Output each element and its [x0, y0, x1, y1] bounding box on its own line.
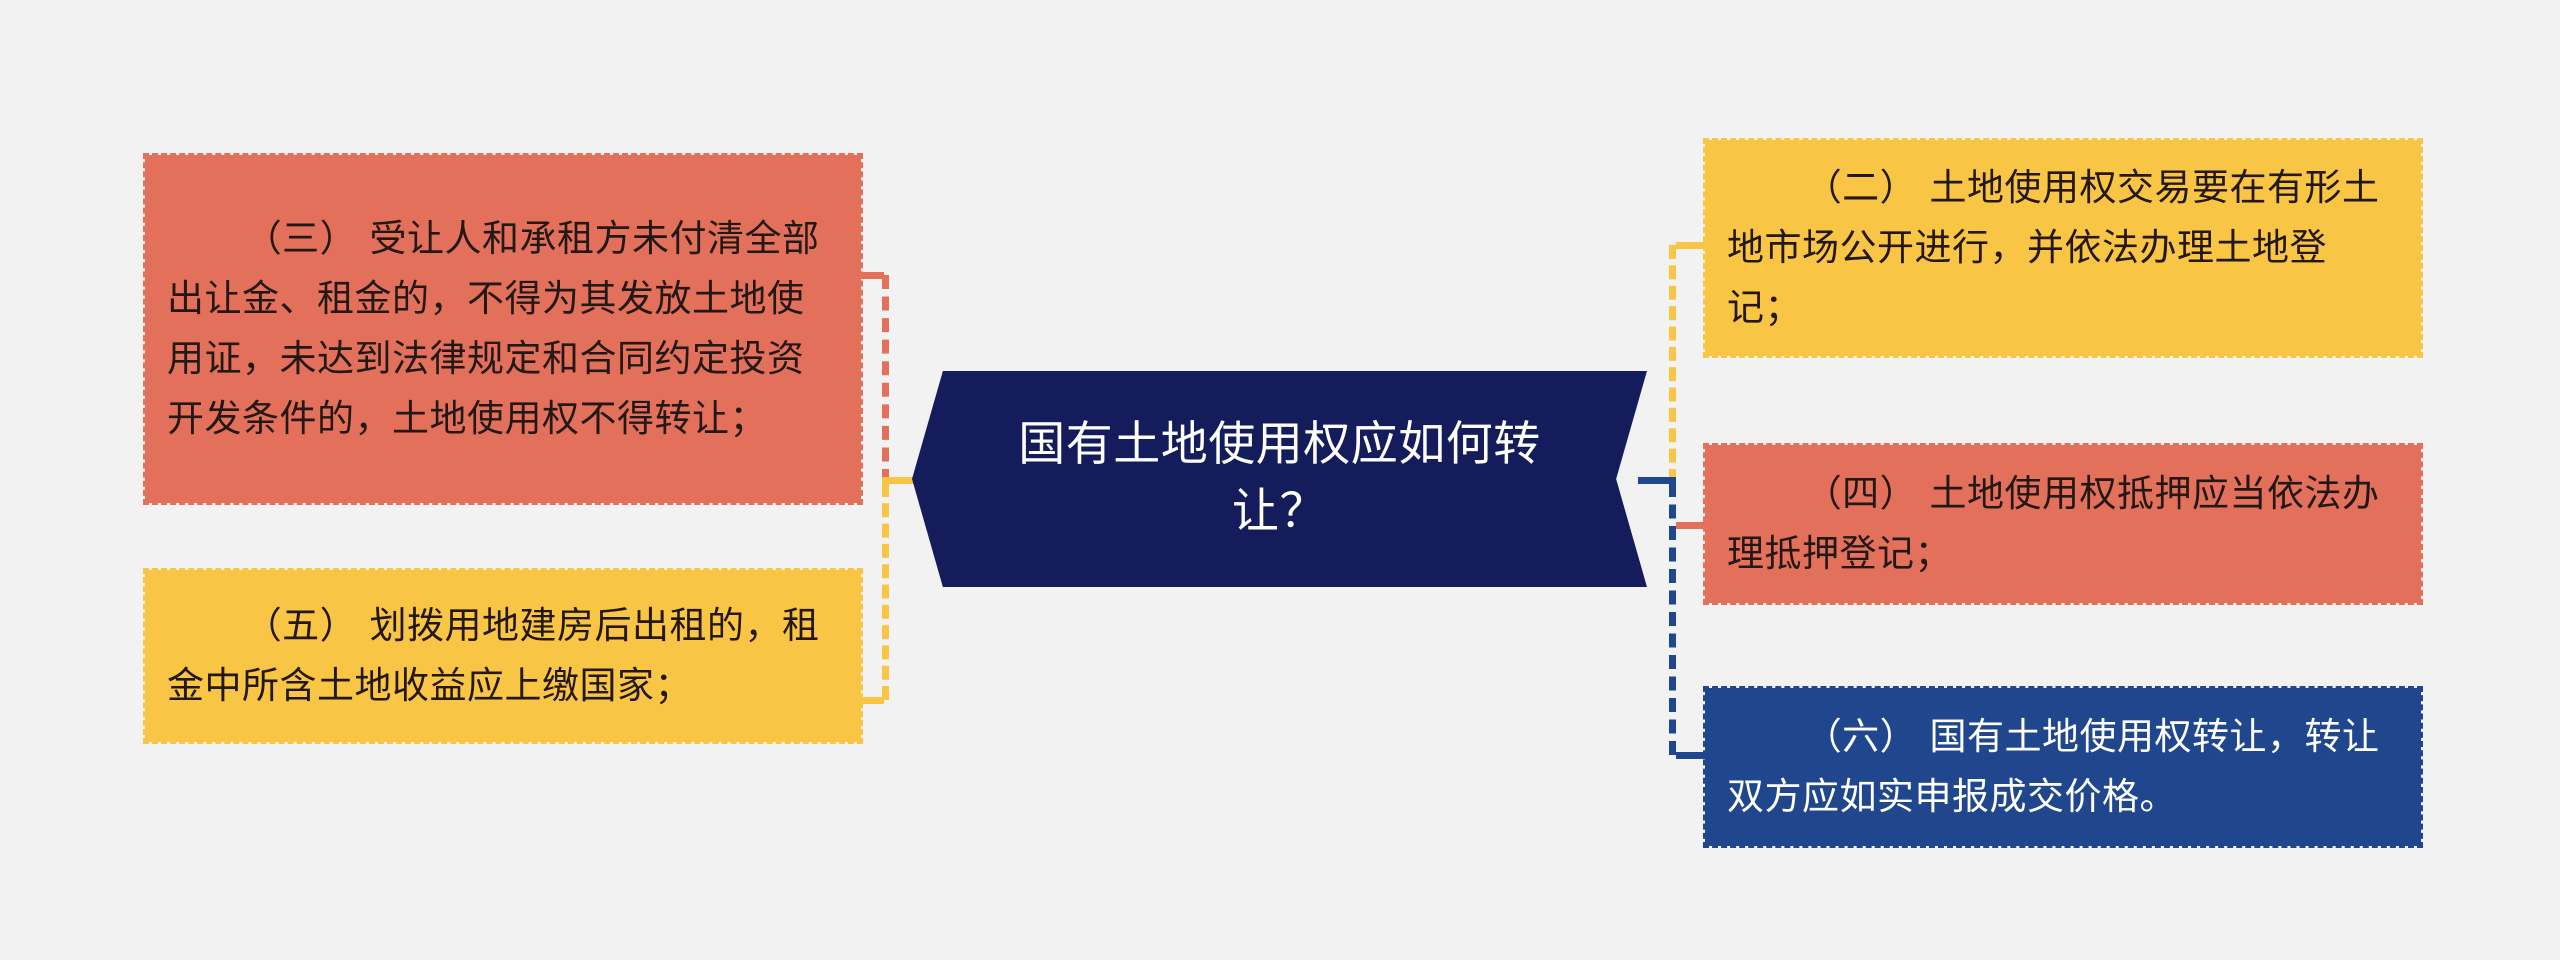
center-topic-node[interactable]: 国有土地使用权应如何转让？	[912, 371, 1647, 587]
connector-right-top-stub	[1676, 242, 1706, 249]
branch-node-six-label: （六） 国有土地使用权转让，转让双方应如实申报成交价格。	[1727, 707, 2395, 827]
connector-left-upper-trunk	[882, 275, 889, 483]
branch-node-three[interactable]: （三） 受让人和承租方未付清全部出让金、租金的，不得为其发放土地使用证，未达到法…	[145, 155, 861, 503]
branch-node-two-label: （二） 土地使用权交易要在有形土地市场公开进行，并依法办理土地登记；	[1727, 158, 2395, 338]
connector-right-bottom-stub	[1676, 752, 1706, 759]
center-topic-label: 国有土地使用权应如何转让？	[1010, 412, 1550, 545]
branch-node-two[interactable]: （二） 土地使用权交易要在有形土地市场公开进行，并依法办理土地登记；	[1705, 140, 2421, 356]
branch-node-three-label: （三） 受让人和承租方未付清全部出让金、租金的，不得为其发放土地使用证，未达到法…	[167, 209, 835, 449]
connector-left-lower-trunk	[882, 483, 889, 700]
connector-right-lower-trunk	[1669, 483, 1676, 755]
branch-node-six[interactable]: （六） 国有土地使用权转让，转让双方应如实申报成交价格。	[1705, 688, 2421, 846]
connector-right-middle-stub	[1676, 522, 1706, 529]
branch-node-five-label: （五） 划拨用地建房后出租的，租金中所含土地收益应上缴国家；	[167, 596, 835, 716]
branch-node-four-label: （四） 土地使用权抵押应当依法办理抵押登记；	[1727, 464, 2395, 584]
connector-right-upper-trunk	[1669, 245, 1676, 483]
mindmap-canvas: （三） 受让人和承租方未付清全部出让金、租金的，不得为其发放土地使用证，未达到法…	[0, 0, 2560, 960]
connector-right-center-stub	[1638, 477, 1676, 484]
branch-node-five[interactable]: （五） 划拨用地建房后出租的，租金中所含土地收益应上缴国家；	[145, 570, 861, 742]
branch-node-four[interactable]: （四） 土地使用权抵押应当依法办理抵押登记；	[1705, 445, 2421, 603]
